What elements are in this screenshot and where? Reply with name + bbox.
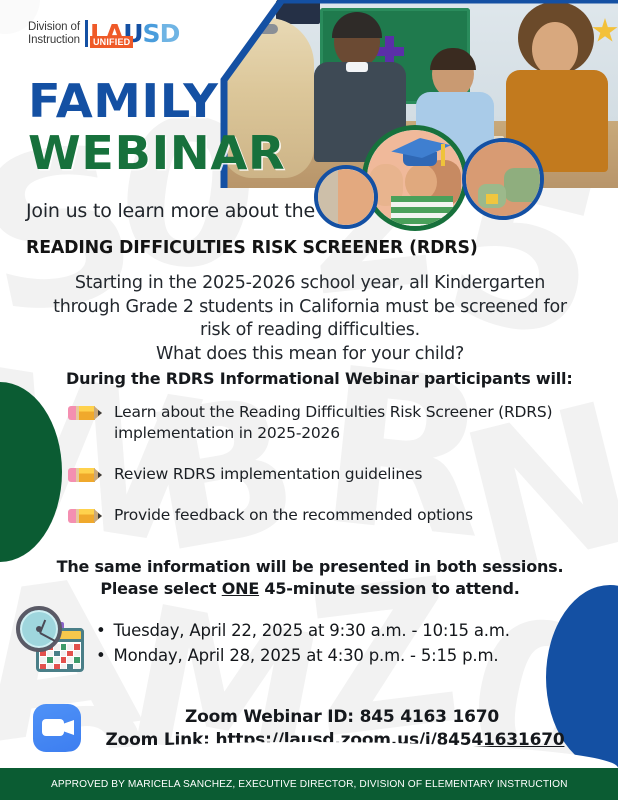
session-note-before: Please select xyxy=(100,579,221,598)
pencil-icon xyxy=(68,508,102,524)
list-item: Review RDRS implementation guidelines xyxy=(68,464,588,485)
session-note-line-2: Please select ONE 45-minute session to a… xyxy=(40,578,580,600)
intro-paragraph-text: Starting in the 2025-2026 school year, a… xyxy=(53,273,567,364)
session-item: Tuesday, April 22, 2025 at 9:30 a.m. - 1… xyxy=(96,618,510,643)
rdrs-heading: READING DIFFICULTIES RISK SCREENER (RDRS… xyxy=(26,238,478,258)
session-list: Tuesday, April 22, 2025 at 9:30 a.m. - 1… xyxy=(96,618,510,668)
list-item: Learn about the Reading Difficulties Ris… xyxy=(68,402,588,444)
session-note: The same information will be presented i… xyxy=(40,556,580,600)
pencil-icon xyxy=(68,467,102,483)
agenda-bullet-text: Provide feedback on the recommended opti… xyxy=(114,505,473,526)
zoom-webinar-id: Zoom Webinar ID: 845 4163 1670 xyxy=(92,706,592,729)
list-item: Provide feedback on the recommended opti… xyxy=(68,505,588,526)
join-us-line: Join us to learn more about the xyxy=(26,200,315,222)
intro-paragraph: Starting in the 2025-2026 school year, a… xyxy=(40,272,580,366)
agenda-list: Learn about the Reading Difficulties Ris… xyxy=(68,402,588,526)
calendar-clock-icon xyxy=(14,606,86,672)
title-family: FAMILY xyxy=(28,76,285,126)
session-item: Monday, April 28, 2025 at 4:30 p.m. - 5:… xyxy=(96,643,510,668)
zoom-icon xyxy=(33,704,81,752)
session-note-one: ONE xyxy=(222,579,259,598)
footer-bar: APPROVED BY MARICELA SANCHEZ, EXECUTIVE … xyxy=(0,768,618,800)
flyer-content: FAMILY WEBINAR Join us to learn more abo… xyxy=(0,0,618,800)
agenda-heading: During the RDRS Informational Webinar pa… xyxy=(66,369,573,388)
title-webinar: WEBINAR xyxy=(28,128,285,178)
agenda-bullet-text: Review RDRS implementation guidelines xyxy=(114,464,422,485)
flyer-canvas: S 0 2 5 W B R N A M Z 0 2 xyxy=(0,0,618,800)
session-note-line-1: The same information will be presented i… xyxy=(40,556,580,578)
approval-text: APPROVED BY MARICELA SANCHEZ, EXECUTIVE … xyxy=(51,778,568,790)
page-title: FAMILY WEBINAR xyxy=(28,76,275,178)
agenda-bullet-text: Learn about the Reading Difficulties Ris… xyxy=(114,402,588,444)
session-note-after: 45-minute session to attend. xyxy=(259,579,520,598)
pencil-icon xyxy=(68,405,102,421)
